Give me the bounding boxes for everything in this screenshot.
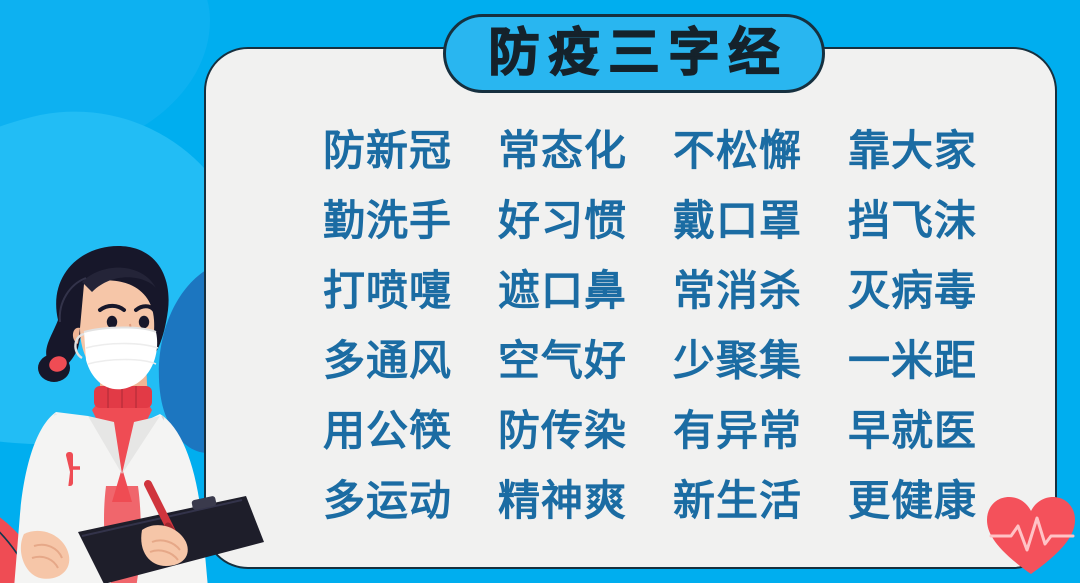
title-badge: 防疫三字经 [443,14,825,93]
heart-pulse-icon [985,494,1077,578]
verse-item: 多运动 [300,466,475,536]
verse-item: 打喷嚏 [300,256,475,326]
verse-item: 更健康 [825,466,1000,536]
female-doctor-illustration [0,236,264,583]
verse-item: 防传染 [475,396,650,466]
verse-grid: 防新冠 常态化 不松懈 靠大家 勤洗手 好习惯 戴口罩 挡飞沫 打喷嚏 遮口鼻 … [300,116,1000,536]
page-title: 防疫三字经 [479,28,788,79]
verse-item: 戴口罩 [650,186,825,256]
verse-item: 早就医 [825,396,1000,466]
verse-item: 精神爽 [475,466,650,536]
verse-item: 一米距 [825,326,1000,396]
verse-item: 灭病毒 [825,256,1000,326]
verse-item: 新生活 [650,466,825,536]
verse-item: 靠大家 [825,116,1000,186]
verse-item: 防新冠 [300,116,475,186]
verse-item: 有异常 [650,396,825,466]
verse-item: 常消杀 [650,256,825,326]
verse-item: 多通风 [300,326,475,396]
verse-item: 空气好 [475,326,650,396]
verse-item: 常态化 [475,116,650,186]
verse-item: 勤洗手 [300,186,475,256]
verse-item: 遮口鼻 [475,256,650,326]
poster-root: 防疫三字经 防新冠 常态化 不松懈 靠大家 勤洗手 好习惯 戴口罩 挡飞沫 打喷… [0,0,1080,583]
verse-item: 少聚集 [650,326,825,396]
verse-item: 好习惯 [475,186,650,256]
verse-item: 用公筷 [300,396,475,466]
verse-item: 挡飞沫 [825,186,1000,256]
verse-item: 不松懈 [650,116,825,186]
